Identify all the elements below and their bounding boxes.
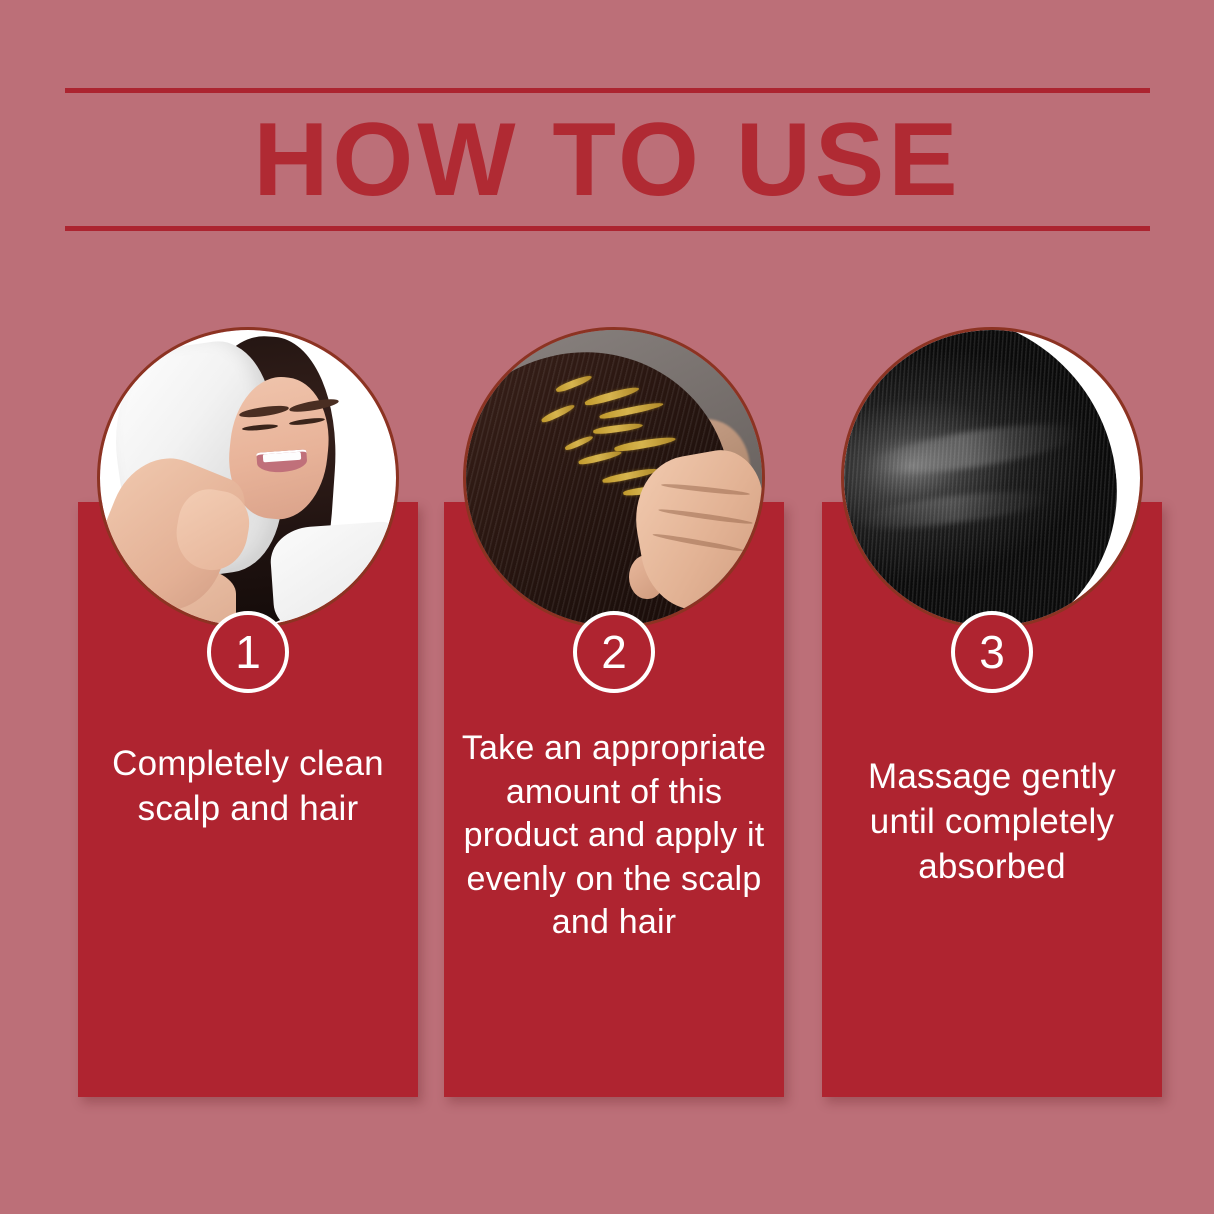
step-caption-1: Completely clean scalp and hair: [92, 742, 404, 832]
header-banner: HOW TO USE: [65, 88, 1150, 231]
step-photo-3: [841, 327, 1143, 629]
step-caption-3: Massage gently until completely absorbed: [836, 755, 1148, 889]
step-number-badge-1: 1: [207, 611, 289, 693]
step-caption-2: Take an appropriate amount of this produ…: [458, 727, 770, 945]
step-card-2: 2 Take an appropriate amount of this pro…: [444, 327, 784, 1097]
glossy-hair-illustration: [844, 330, 1140, 626]
step-photo-1: [97, 327, 399, 629]
step-number-badge-2: 2: [573, 611, 655, 693]
hair-oil-application-illustration: [466, 330, 762, 626]
title-rule-bottom: [65, 226, 1150, 231]
step-card-3: 3 Massage gently until completely absorb…: [822, 327, 1162, 1097]
hair-gloss-shape: [844, 330, 1133, 626]
tank-top-shape: [268, 521, 396, 626]
step-photo-2: [463, 327, 765, 629]
step-card-1: 1 Completely clean scalp and hair: [78, 327, 418, 1097]
title-rule-top: [65, 88, 1150, 93]
woman-towel-illustration: [100, 330, 396, 626]
steps-container: 1 Completely clean scalp and hair: [78, 327, 1146, 1097]
step-number-badge-3: 3: [951, 611, 1033, 693]
page-title: HOW TO USE: [65, 108, 1150, 212]
